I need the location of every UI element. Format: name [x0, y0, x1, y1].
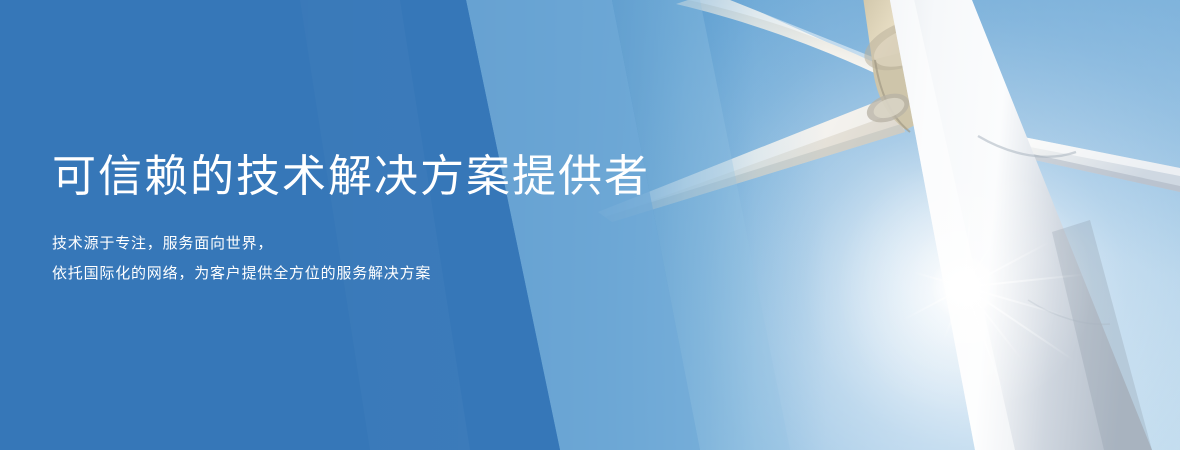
hero-banner: 可信赖的技术解决方案提供者 技术源于专注，服务面向世界， 依托国际化的网络，为客… — [0, 0, 1180, 450]
hero-subtitle-line-1: 技术源于专注，服务面向世界， — [52, 228, 672, 258]
hero-headline: 可信赖的技术解决方案提供者 — [52, 150, 672, 204]
hero-subtitle: 技术源于专注，服务面向世界， 依托国际化的网络，为客户提供全方位的服务解决方案 — [52, 204, 672, 288]
hero-copy: 可信赖的技术解决方案提供者 技术源于专注，服务面向世界， 依托国际化的网络，为客… — [52, 150, 672, 288]
hero-subtitle-line-2: 依托国际化的网络，为客户提供全方位的服务解决方案 — [52, 258, 672, 288]
turbine-tower — [888, 0, 1152, 450]
